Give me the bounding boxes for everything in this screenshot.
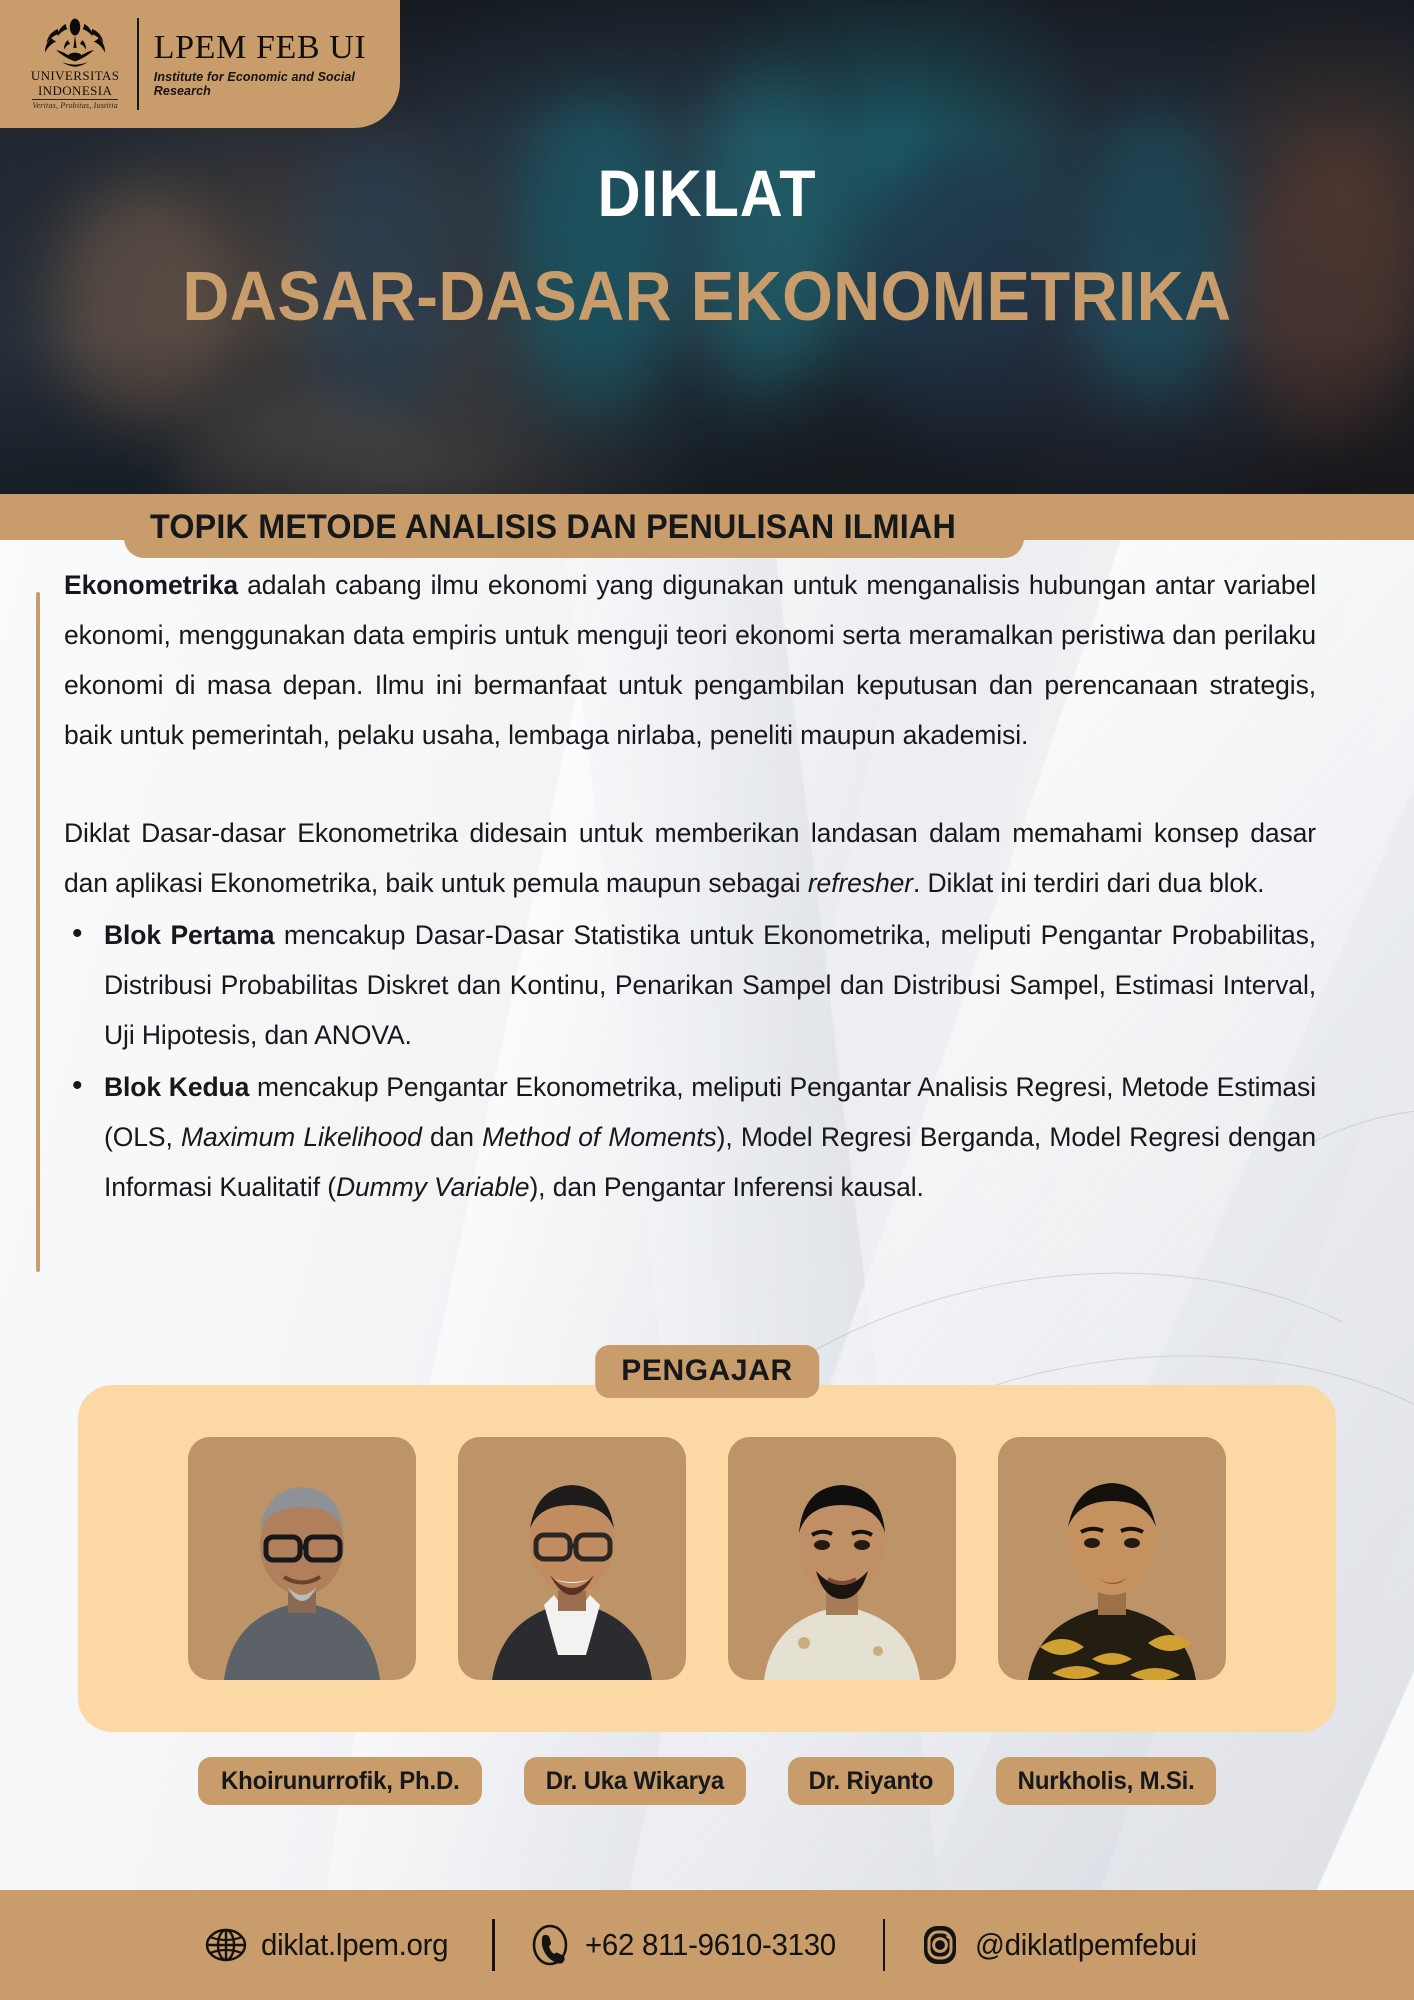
footer-website-label: diklat.lpem.org (261, 1927, 448, 1963)
block2-p4: ), dan Pengantar Inferensi kausal. (529, 1172, 923, 1202)
avatar (728, 1437, 956, 1680)
instructor-name: Nurkholis, M.Si. (1018, 1767, 1195, 1796)
instructor-card (78, 1385, 1336, 1732)
footer-bar: diklat.lpem.org +62 811-9610-3130 @dikla… (0, 1890, 1414, 2000)
brand-subtitle: Institute for Economic and Social Resear… (154, 70, 400, 98)
brand-name: LPEM FEB UI (154, 31, 400, 65)
avatar (458, 1437, 686, 1680)
instructor-name-row: Khoirunurrofik, Ph.D. Dr. Uka Wikarya Dr… (78, 1757, 1336, 1805)
avatar (998, 1437, 1226, 1680)
block-list: Blok Pertama mencakup Dasar-Dasar Statis… (64, 910, 1316, 1212)
topic-badge-label: TOPIK METODE ANALISIS DAN PENULISAN ILMI… (150, 508, 956, 547)
footer-instagram-label: @diklatlpemfebui (975, 1927, 1197, 1963)
logo-divider (137, 18, 139, 110)
globe-icon (205, 1924, 247, 1966)
instructor-name: Khoirunurrofik, Ph.D. (221, 1767, 460, 1796)
content-section: Ekonometrika adalah cabang ilmu ekonomi … (0, 560, 1414, 1212)
footer-phone[interactable]: +62 811-9610-3130 (495, 1924, 883, 1966)
list-item: Blok Kedua mencakup Pengantar Ekonometri… (64, 1062, 1316, 1212)
paragraph-definition-rest: adalah cabang ilmu ekonomi yang digunaka… (64, 570, 1316, 750)
hero-title: DASAR-DASAR EKONOMETRIKA (49, 261, 1364, 332)
block2-lead: Blok Kedua (104, 1072, 249, 1102)
footer-website[interactable]: diklat.lpem.org (171, 1924, 492, 1966)
instructor-name-chip: Dr. Riyanto (788, 1757, 954, 1805)
instructor-name: Dr. Riyanto (809, 1767, 934, 1796)
seal-divider (32, 99, 118, 100)
block2-i1: Maximum Likelihood (181, 1122, 422, 1152)
brand-logo-plate: UNIVERSITAS INDONESIA Veritas, Probitas,… (0, 0, 400, 128)
footer-phone-label: +62 811-9610-3130 (585, 1927, 836, 1963)
pengajar-badge: PENGAJAR (595, 1345, 819, 1398)
seal-motto: Veritas, Probitas, Iustitia (32, 101, 118, 110)
overview-italic: refresher (808, 868, 913, 898)
block2-i3: Dummy Variable (336, 1172, 529, 1202)
pengajar-heading: PENGAJAR (621, 1354, 793, 1387)
instructor-name-chip: Nurkholis, M.Si. (996, 1757, 1216, 1805)
list-item: Blok Pertama mencakup Dasar-Dasar Statis… (64, 910, 1316, 1060)
block1-rest: mencakup Dasar-Dasar Statistika untuk Ek… (104, 920, 1316, 1050)
seal-line2: INDONESIA (38, 84, 112, 97)
topic-badge: TOPIK METODE ANALISIS DAN PENULISAN ILMI… (124, 496, 1024, 558)
hero-eyebrow: DIKLAT (71, 160, 1344, 227)
instructor-name-chip: Khoirunurrofik, Ph.D. (198, 1757, 483, 1805)
brand-wordmark: LPEM FEB UI Institute for Economic and S… (154, 31, 400, 98)
seal-line1: UNIVERSITAS (31, 69, 120, 82)
footer-instagram[interactable]: @diklatlpemfebui (885, 1924, 1242, 1966)
avatar (188, 1437, 416, 1680)
content-accent-rail (36, 592, 40, 1272)
paragraph-overview: Diklat Dasar-dasar Ekonometrika didesain… (64, 808, 1316, 908)
overview-part-b: . Diklat ini terdiri dari dua blok. (913, 868, 1264, 898)
paragraph-spacer (64, 760, 1316, 808)
instructor-name: Dr. Uka Wikarya (546, 1767, 724, 1796)
block2-i2: Method of Moments (482, 1122, 716, 1152)
lead-term: Ekonometrika (64, 570, 238, 600)
block1-lead: Blok Pertama (104, 920, 274, 950)
instructor-name-chip: Dr. Uka Wikarya (524, 1757, 746, 1805)
poster-root: DIKLAT DASAR-DASAR EKONOMETRIKA (0, 0, 1414, 2000)
phone-icon (529, 1924, 571, 1966)
paragraph-definition: Ekonometrika adalah cabang ilmu ekonomi … (64, 560, 1316, 760)
instagram-icon (919, 1924, 961, 1966)
hero-title-group: DIKLAT DASAR-DASAR EKONOMETRIKA (0, 160, 1414, 333)
block2-p2: dan (422, 1122, 482, 1152)
makara-ui-seal-icon: UNIVERSITAS INDONESIA Veritas, Probitas,… (30, 18, 120, 110)
body-copy: Ekonometrika adalah cabang ilmu ekonomi … (64, 560, 1316, 1212)
